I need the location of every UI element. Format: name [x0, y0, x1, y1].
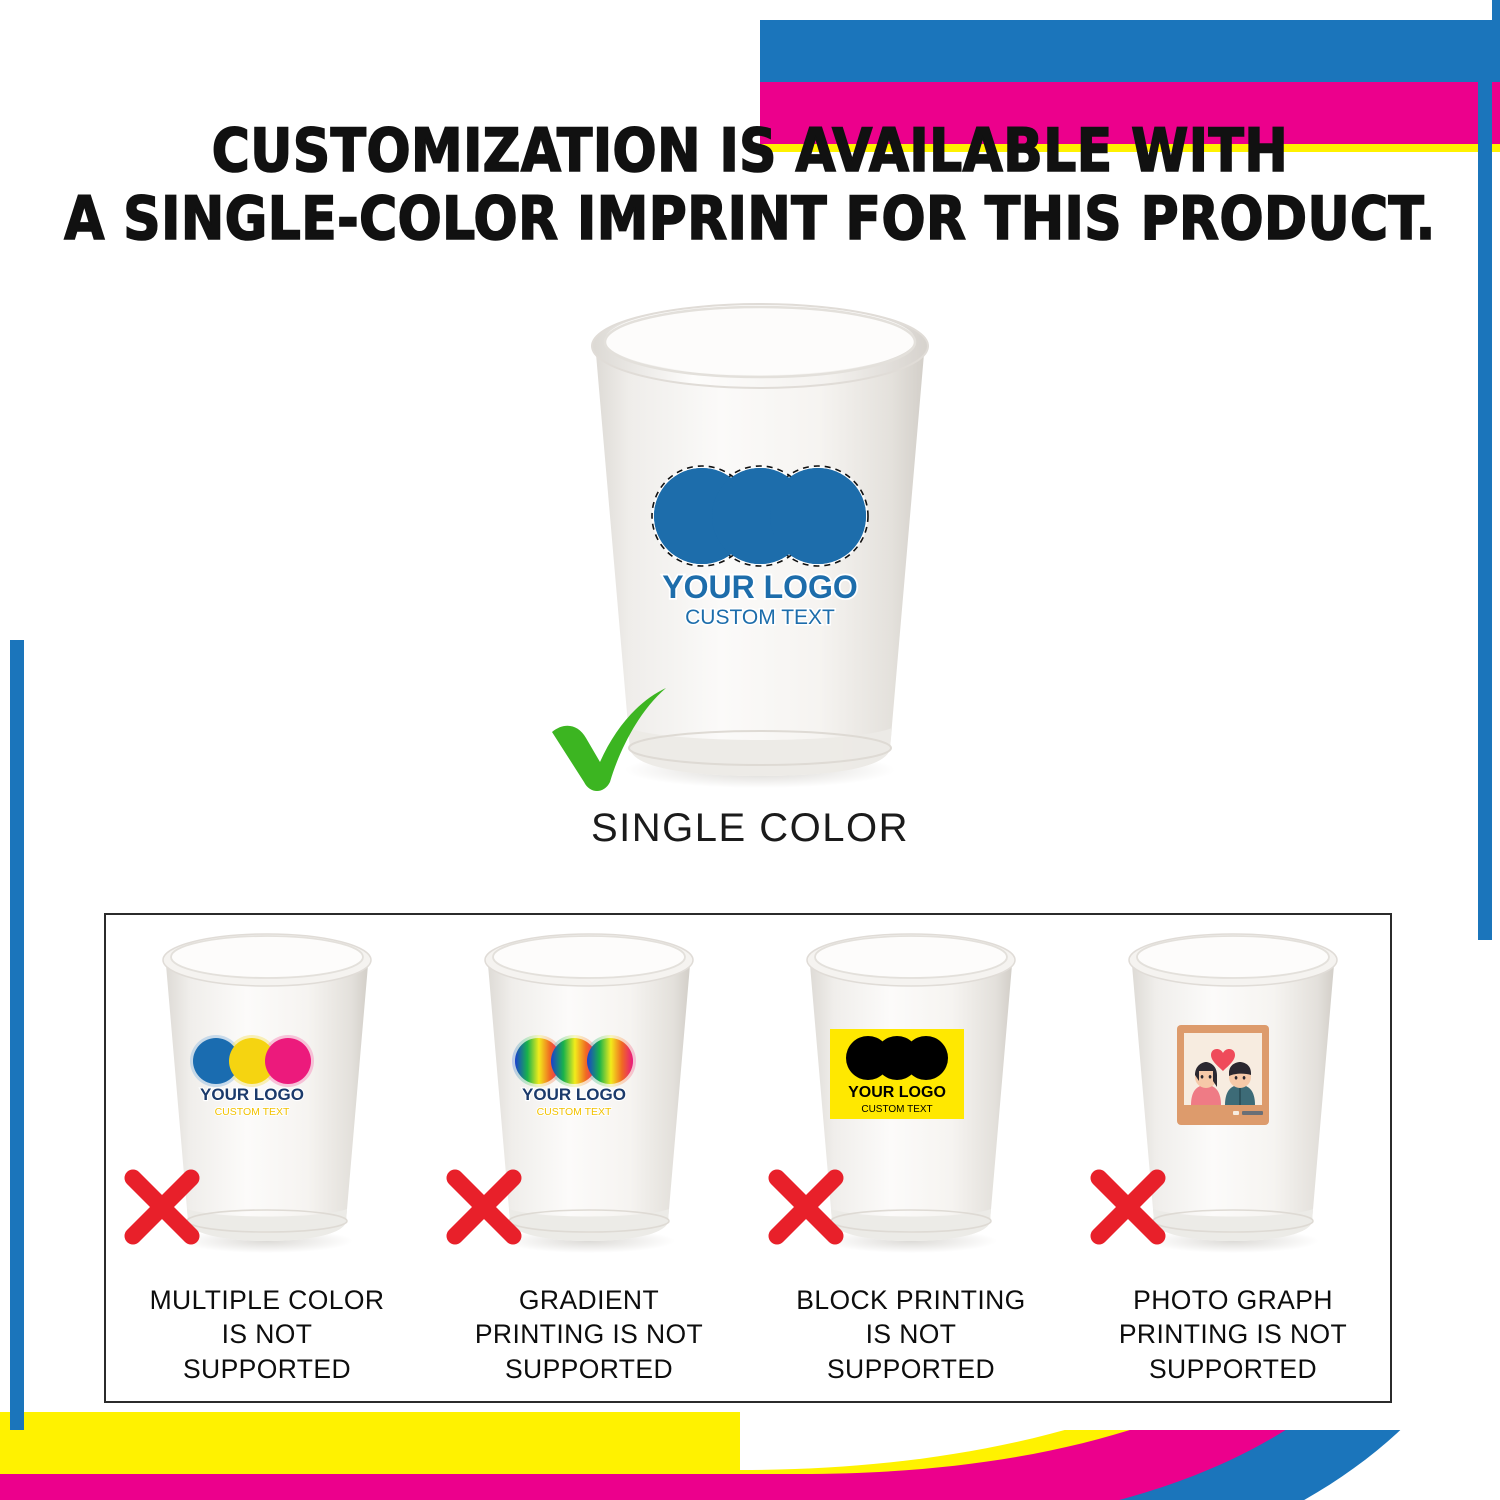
caption-block-printing: BLOCK PRINTING IS NOT SUPPORTED	[750, 1283, 1072, 1386]
panel-cell-gradient: YOUR LOGO CUSTOM TEXT GRADIENT PRINTING …	[428, 915, 750, 1401]
x-icon	[1086, 1165, 1170, 1249]
imprint-logo-text: YOUR LOGO	[522, 1085, 626, 1104]
hero-logo-text: YOUR LOGO	[662, 569, 858, 605]
infographic-page: CUSTOMIZATION IS AVAILABLE WITH A SINGLE…	[0, 0, 1500, 1500]
hero-custom-text: CUSTOM TEXT	[685, 606, 835, 628]
caption-line: IS NOT	[750, 1317, 1072, 1351]
panel-cell-photo-graph: PHOTO GRAPH PRINTING IS NOT SUPPORTED	[1072, 915, 1394, 1401]
caption-gradient: GRADIENT PRINTING IS NOT SUPPORTED	[428, 1283, 750, 1386]
imprint-photo-graph	[1175, 1023, 1271, 1127]
imprint-multiple-color: YOUR LOGO CUSTOM TEXT	[182, 1033, 322, 1119]
imprint-block-printing: YOUR LOGO CUSTOM TEXT	[828, 1027, 966, 1123]
caption-line: SUPPORTED	[1072, 1352, 1394, 1386]
x-icon	[120, 1165, 204, 1249]
caption-line: SUPPORTED	[106, 1352, 428, 1386]
page-title-line-2: A SINGLE-COLOR IMPRINT FOR THIS PRODUCT.	[30, 186, 1470, 254]
panel-cell-block-printing: YOUR LOGO CUSTOM TEXT BLOCK PRINTING IS …	[750, 915, 1072, 1401]
panel-cell-multiple-color: YOUR LOGO CUSTOM TEXT MULTIPLE COLOR IS …	[106, 915, 428, 1401]
page-title: CUSTOMIZATION IS AVAILABLE WITH A SINGLE…	[30, 118, 1470, 254]
unsupported-examples-panel: YOUR LOGO CUSTOM TEXT MULTIPLE COLOR IS …	[104, 913, 1392, 1403]
caption-line: PHOTO GRAPH	[1072, 1283, 1394, 1317]
caption-line: SUPPORTED	[750, 1352, 1072, 1386]
caption-line: PRINTING IS NOT	[1072, 1317, 1394, 1351]
hero-imprint: YOUR LOGO CUSTOM TEXT	[640, 458, 880, 628]
imprint-logo-text: YOUR LOGO	[848, 1084, 946, 1101]
caption-line: SUPPORTED	[428, 1352, 750, 1386]
caption-line: PRINTING IS NOT	[428, 1317, 750, 1351]
caption-line: MULTIPLE COLOR	[106, 1283, 428, 1317]
imprint-logo-text: YOUR LOGO	[200, 1085, 304, 1104]
page-title-line-1: CUSTOMIZATION IS AVAILABLE WITH	[30, 118, 1470, 186]
hero-label: SINGLE COLOR	[0, 806, 1500, 851]
x-icon	[442, 1165, 526, 1249]
imprint-custom-text: CUSTOM TEXT	[861, 1104, 932, 1115]
caption-photo-graph: PHOTO GRAPH PRINTING IS NOT SUPPORTED	[1072, 1283, 1394, 1386]
caption-line: GRADIENT	[428, 1283, 750, 1317]
x-icon	[764, 1165, 848, 1249]
imprint-custom-text: CUSTOM TEXT	[215, 1106, 290, 1118]
cup-rim-inner	[605, 305, 915, 375]
imprint-custom-text: CUSTOM TEXT	[537, 1106, 612, 1118]
caption-multiple-color: MULTIPLE COLOR IS NOT SUPPORTED	[106, 1283, 428, 1386]
caption-line: BLOCK PRINTING	[750, 1283, 1072, 1317]
imprint-circles	[652, 466, 868, 566]
caption-line: IS NOT	[106, 1317, 428, 1351]
imprint-gradient: YOUR LOGO CUSTOM TEXT	[504, 1033, 644, 1119]
check-icon	[544, 686, 674, 796]
